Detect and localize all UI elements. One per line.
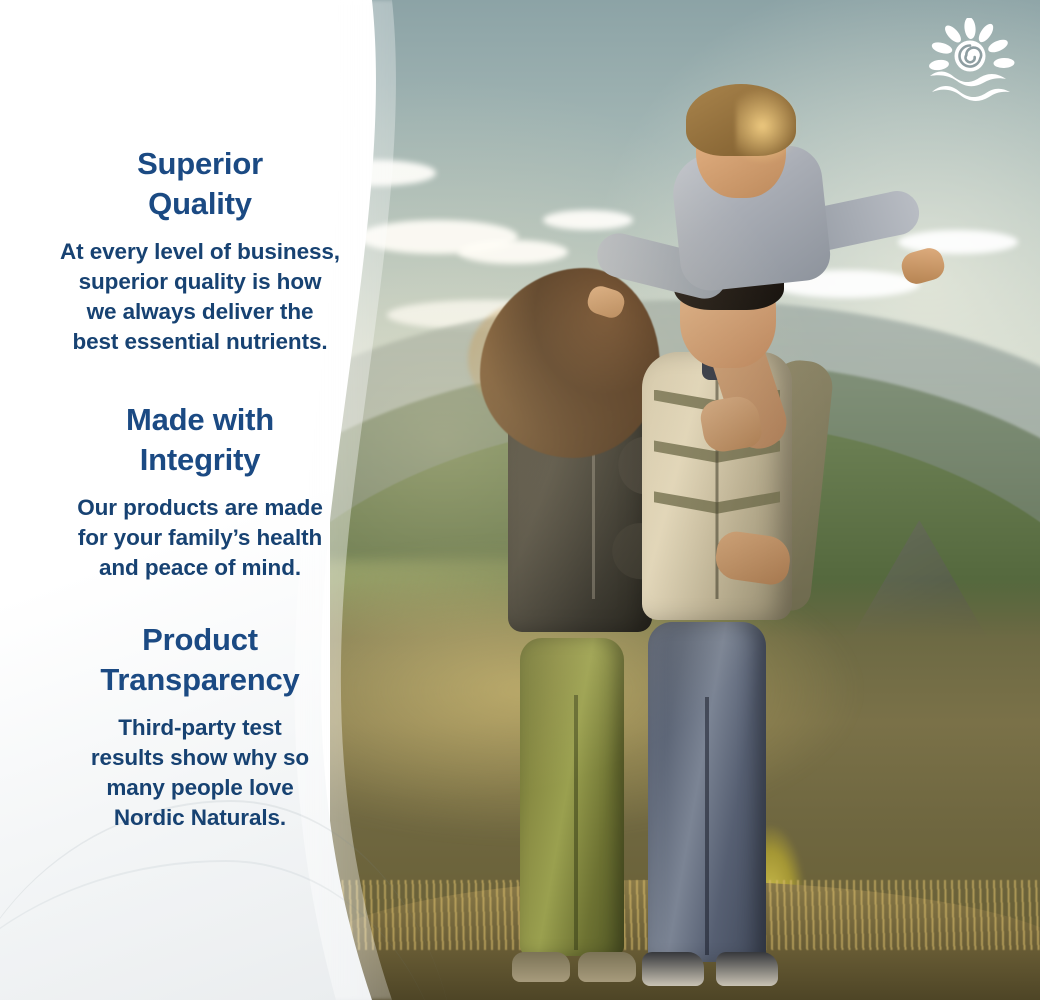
man-shoe-left xyxy=(642,952,704,986)
woman-shoe-right xyxy=(578,952,636,982)
man-shoe-right xyxy=(716,952,778,986)
cloud xyxy=(458,240,568,264)
value-body: At every level of business, superior qua… xyxy=(24,237,376,357)
promotional-banner: Superior Quality At every level of busin… xyxy=(0,0,1040,1000)
child-hair-backlight xyxy=(736,86,802,166)
value-block-made-with-integrity: Made with Integrity Our products are mad… xyxy=(0,400,400,583)
brand-values-list: Superior Quality At every level of busin… xyxy=(0,0,400,1000)
value-body: Our products are made for your family’s … xyxy=(24,493,376,583)
leg-seam xyxy=(574,695,578,949)
sun-waves-logo-icon xyxy=(922,18,1018,104)
value-title: Made with Integrity xyxy=(24,400,376,480)
family-mountain-photo xyxy=(330,0,1040,1000)
man-jeans xyxy=(648,622,766,962)
cloud xyxy=(543,210,633,230)
value-title: Product Transparency xyxy=(24,620,376,700)
woman-legs xyxy=(520,638,624,956)
leg-seam xyxy=(705,697,709,955)
value-block-superior-quality: Superior Quality At every level of busin… xyxy=(0,144,400,357)
woman-shoe-left xyxy=(512,952,570,982)
value-body: Third-party test results show why so man… xyxy=(24,713,376,833)
value-title: Superior Quality xyxy=(24,144,376,224)
value-block-product-transparency: Product Transparency Third-party test re… xyxy=(0,620,400,833)
